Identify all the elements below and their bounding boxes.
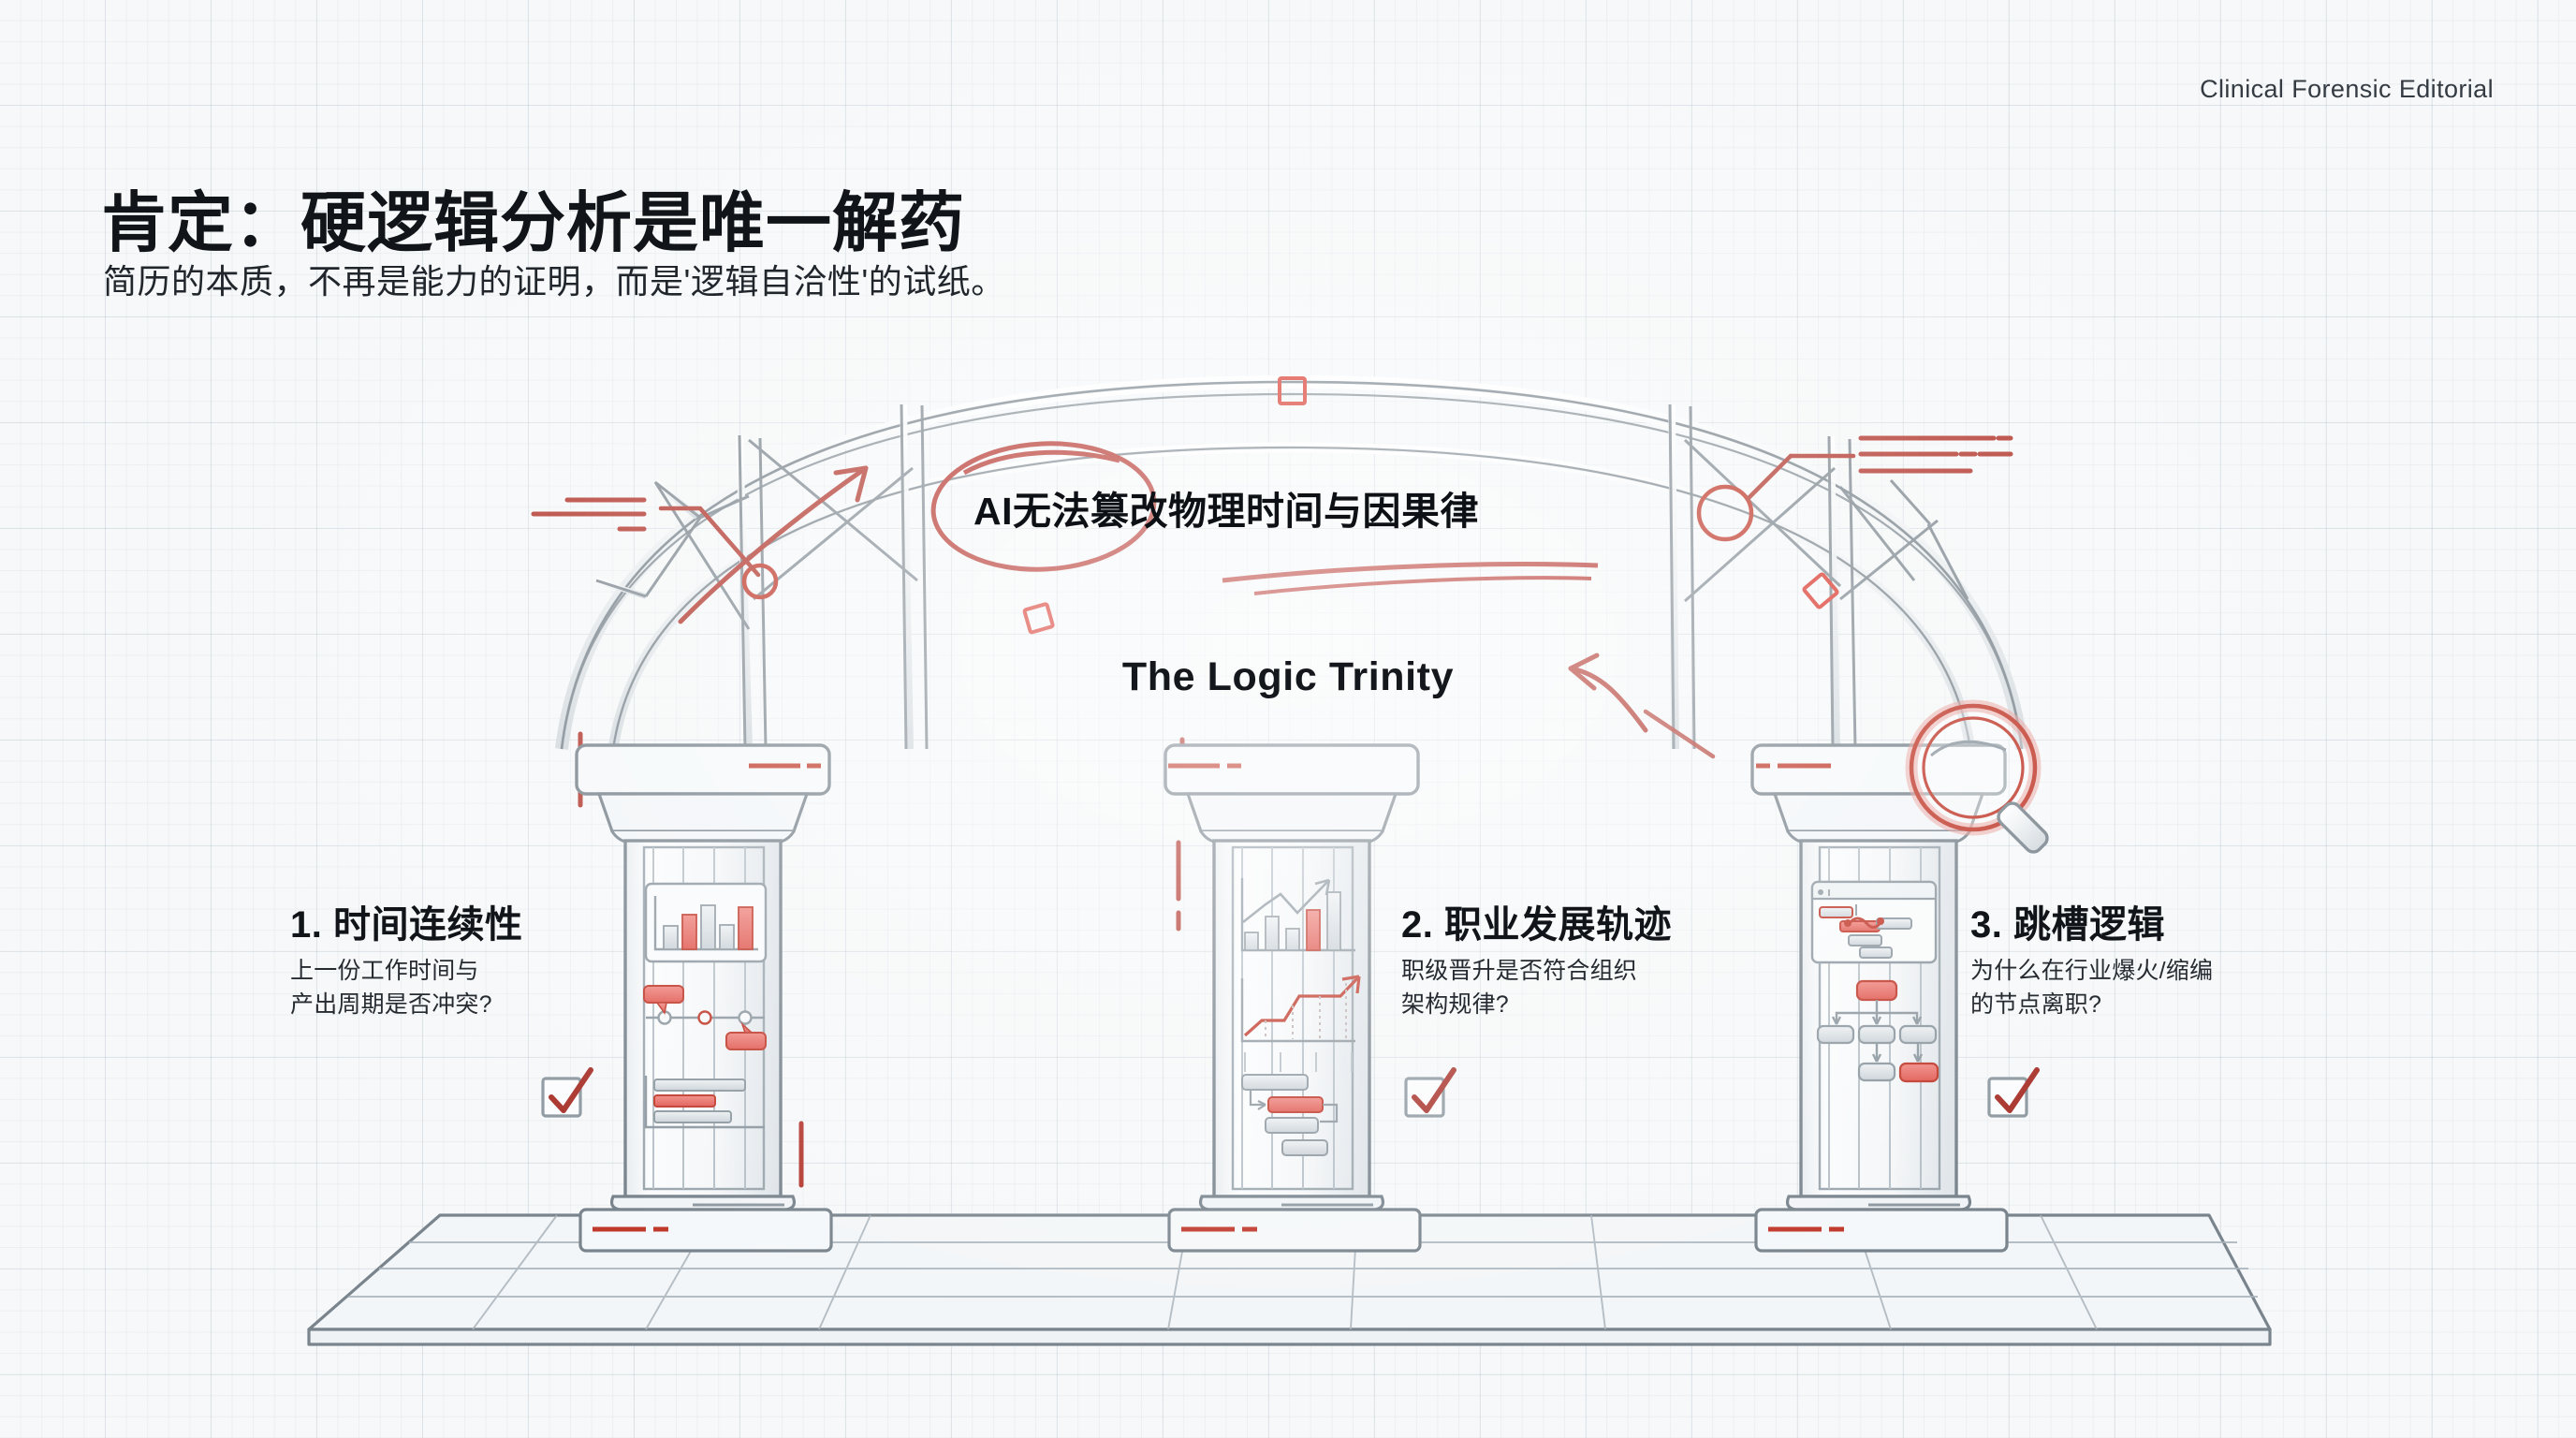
checkbox-checked-icon[interactable] [1406, 1070, 1454, 1116]
pillar-2-heading: 2. 职业发展轨迹 [1401, 903, 1672, 946]
pillar-2-description: 职级晋升是否符合组织 架构规律? [1401, 955, 1672, 1021]
checkbox-checked-icon[interactable] [543, 1070, 591, 1116]
pillar-1-description: 上一份工作时间与 产出周期是否冲突? [290, 955, 522, 1021]
editorial-eyebrow: Clinical Forensic Editorial [2200, 75, 2494, 104]
pillar-1-heading: 1. 时间连续性 [290, 903, 522, 946]
pillar-2-desc-line-1: 职级晋升是否符合组织 [1401, 955, 1672, 989]
pillar-1-desc-line-1: 上一份工作时间与 [290, 955, 522, 989]
arch-banner-text: AI无法篡改物理时间与因果律 [973, 479, 1479, 536]
pillar-3-desc-line-1: 为什么在行业爆火/缩编 [1970, 955, 2213, 989]
pillar-2 [1165, 745, 1420, 1251]
joint-marker-icon [1024, 604, 1053, 633]
arch-caption: The Logic Trinity [0, 654, 2576, 700]
pillar-1-label: 1. 时间连续性 上一份工作时间与 产出周期是否冲突? [290, 903, 522, 1021]
window-gantt-panel [1812, 882, 1936, 962]
page-title: 肯定：硬逻辑分析是唯一解药 [101, 170, 965, 265]
bar-chart-panel [646, 884, 766, 961]
pillar-1-desc-line-2: 产出周期是否冲突? [290, 989, 522, 1022]
pillar-3-desc-line-2: 的节点离职? [1970, 989, 2213, 1022]
pillar-3-description: 为什么在行业爆火/缩编 的节点离职? [1970, 955, 2213, 1021]
pillar-3-heading: 3. 跳槽逻辑 [1970, 903, 2213, 946]
pillar-2-desc-line-2: 架构规律? [1401, 989, 1672, 1022]
pillar-2-label: 2. 职业发展轨迹 职级晋升是否符合组织 架构规律? [1401, 903, 1672, 1021]
page-subtitle: 简历的本质，不再是能力的证明，而是'逻辑自洽性'的试纸。 [103, 255, 1005, 303]
pillar-3-label: 3. 跳槽逻辑 为什么在行业爆火/缩编 的节点离职? [1970, 903, 2213, 1021]
checkbox-checked-icon[interactable] [1989, 1070, 2037, 1116]
pillar-1 [577, 745, 831, 1251]
